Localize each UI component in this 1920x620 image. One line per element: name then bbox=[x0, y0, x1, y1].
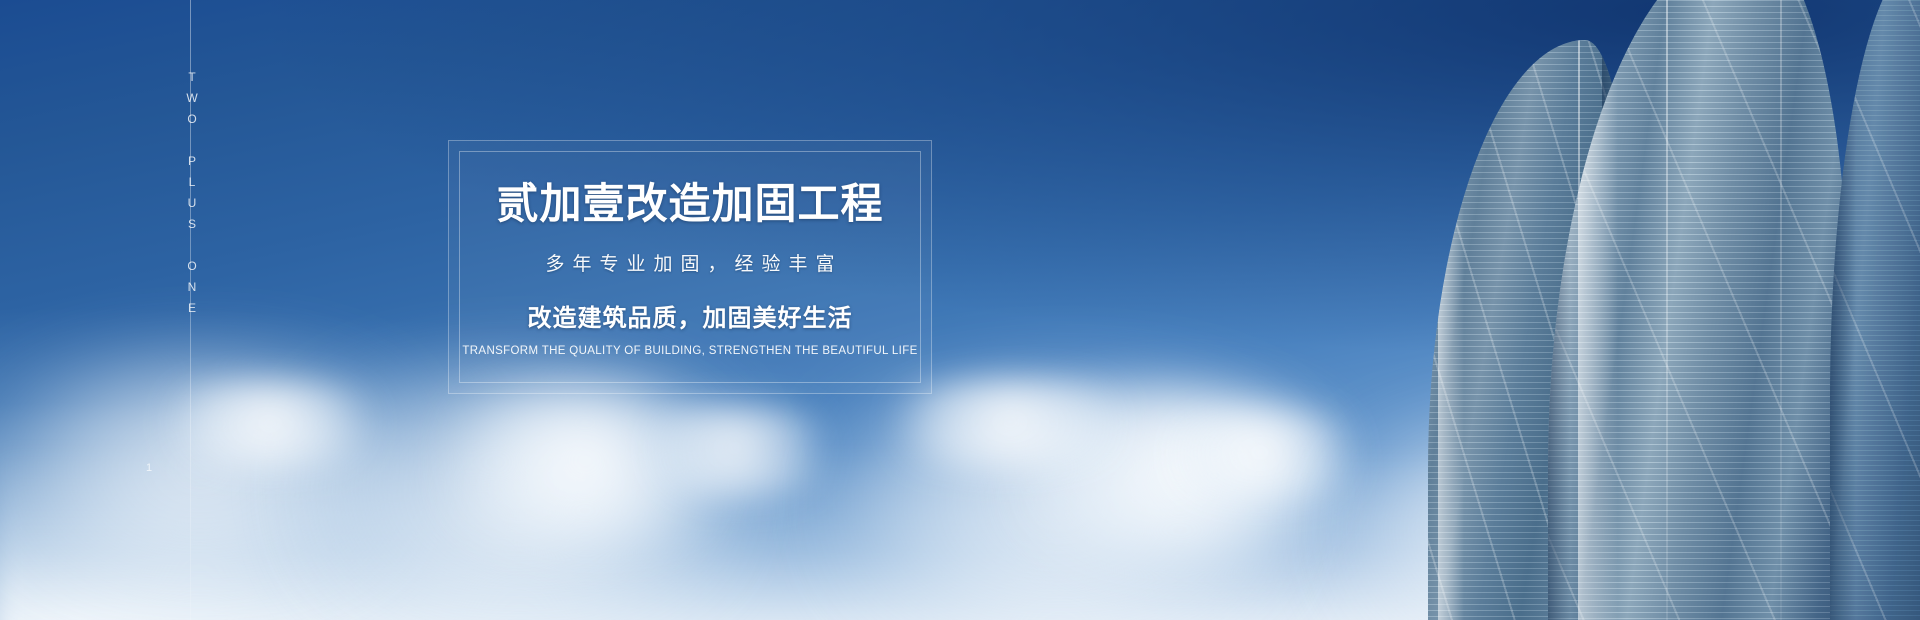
vertical-brand-label: TWO PLUS ONE bbox=[175, 70, 203, 322]
hero-headline: 贰加壹改造加固工程 bbox=[449, 181, 931, 227]
hero-english-tagline: TRANSFORM THE QUALITY OF BUILDING, STREN… bbox=[449, 345, 931, 357]
tower-shadow-edge bbox=[1548, 0, 1570, 620]
hero-panel-content: 贰加壹改造加固工程 多年专业加固，经验丰富 改造建筑品质，加固美好生活 TRAN… bbox=[449, 181, 931, 357]
tower-spine bbox=[1780, 0, 1782, 620]
tower-spine bbox=[1666, 0, 1668, 620]
hero-subline: 多年专业加固，经验丰富 bbox=[449, 249, 931, 276]
tower-shadow-edge bbox=[1830, 0, 1856, 620]
slide-number: 1 bbox=[143, 462, 155, 474]
hero-tagline: 改造建筑品质，加固美好生活 bbox=[449, 298, 931, 333]
hero-text-panel: 贰加壹改造加固工程 多年专业加固，经验丰富 改造建筑品质，加固美好生活 TRAN… bbox=[448, 140, 932, 394]
tower-back bbox=[1548, 0, 1848, 620]
hero-banner: TWO PLUS ONE 1 贰加壹改造加固工程 多年专业加固，经验丰富 改造建… bbox=[0, 0, 1920, 620]
tower-edge-highlight bbox=[1578, 0, 1618, 620]
tower-edge-highlight bbox=[1438, 40, 1464, 620]
cloud-puff bbox=[140, 382, 400, 470]
tower-far-right bbox=[1830, 0, 1920, 620]
skyscraper-group bbox=[1140, 0, 1920, 620]
